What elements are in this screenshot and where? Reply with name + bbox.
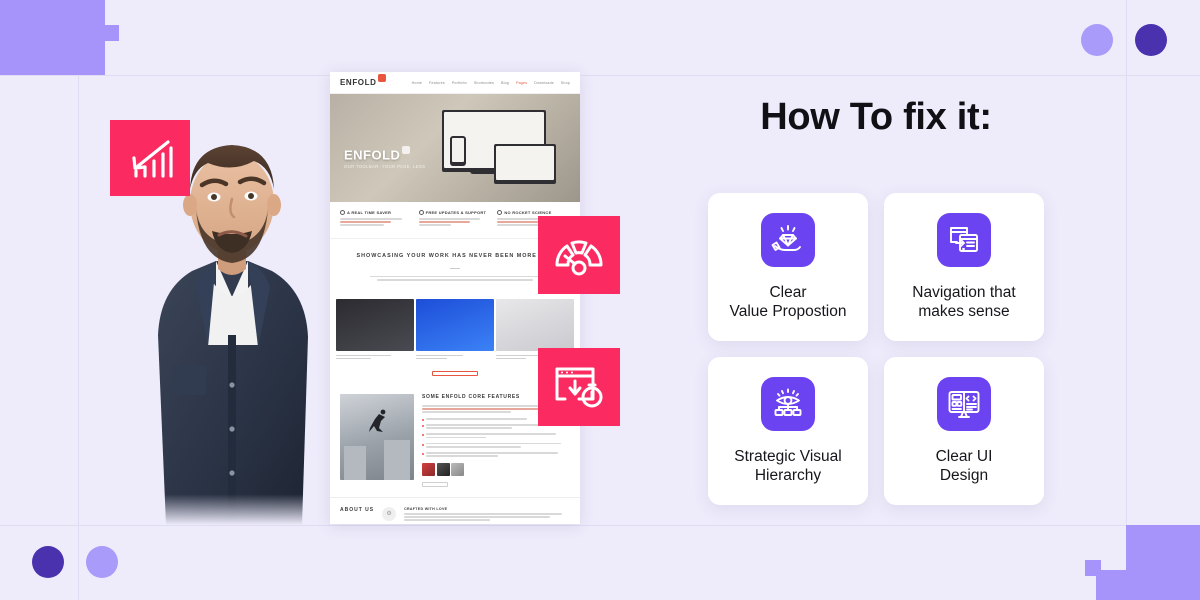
mockup-nav-item[interactable]: Home — [412, 81, 422, 85]
monitor-code-icon — [937, 377, 991, 431]
mockup-about-section: ABOUT US ⚙ CRAFTED WITH LOVE — [330, 497, 580, 524]
declining-chart-icon — [126, 136, 174, 180]
mockup-feature: A REAL TIME SAVER — [340, 210, 413, 228]
mockup-feature-title: NO ROCKET SCIENCE — [497, 210, 570, 215]
mockup-hero-badge-icon — [402, 146, 410, 154]
hand-diamond-icon — [761, 213, 815, 267]
mockup-cta-button[interactable] — [432, 371, 478, 376]
decor-block-top-left — [0, 0, 105, 75]
navigation-windows-icon — [937, 213, 991, 267]
gridline-horizontal — [0, 525, 1200, 526]
badge-slow-page-load — [538, 348, 620, 426]
mockup-nav[interactable]: Home Features Portfolio Shortcodes Blog … — [412, 81, 570, 85]
thumbnail — [422, 463, 435, 476]
card-clear-value-proposition[interactable]: Clear Value Propostion — [708, 193, 868, 341]
text-line — [377, 279, 534, 281]
text-line — [419, 218, 481, 220]
mockup-about-subtitle: CRAFTED WITH LOVE — [404, 507, 570, 511]
text-line — [419, 221, 470, 223]
poster-canvas: ENFOLD Home Features Portfolio Shortcode… — [0, 0, 1200, 600]
mockup-nav-item[interactable]: Features — [429, 81, 445, 85]
text-line — [340, 224, 384, 226]
decor-square-top-left — [103, 25, 119, 41]
clock-icon — [340, 210, 345, 215]
gridline-vertical — [1126, 0, 1127, 600]
mockup-feature-title: FREE UPDATES & SUPPORT — [419, 210, 492, 215]
text-line — [340, 218, 402, 220]
mockup-topbar: ENFOLD Home Features Portfolio Shortcode… — [330, 72, 580, 94]
card-label: Clear Value Propostion — [730, 283, 847, 322]
mockup-gallery — [330, 299, 580, 351]
list-item — [422, 443, 570, 449]
mockup-nav-item[interactable]: Shop — [561, 81, 570, 85]
divider — [450, 268, 460, 269]
thumbnail — [451, 463, 464, 476]
mockup-logo-text: ENFOLD — [340, 78, 377, 87]
slow-page-load-icon — [553, 363, 605, 411]
mockup-nav-item[interactable]: Portfolio — [452, 81, 467, 85]
rocket-icon — [497, 210, 502, 215]
mockup-about-title: ABOUT US — [340, 507, 374, 513]
decor-dot-bottom-light — [86, 546, 118, 578]
caption — [416, 355, 494, 361]
decor-dot-top-dark — [1135, 24, 1167, 56]
decor-dot-top-light — [1081, 24, 1113, 56]
slow-speedometer-icon — [553, 232, 605, 278]
thumbnail — [437, 463, 450, 476]
mockup-about-text: CRAFTED WITH LOVE — [404, 507, 570, 523]
card-clear-ui-design[interactable]: Clear UI Design — [884, 357, 1044, 505]
decor-dot-bottom-dark — [32, 546, 64, 578]
mockup-feature-title: A REAL TIME SAVER — [340, 210, 413, 215]
text-line — [419, 224, 452, 226]
device-tablet — [494, 144, 556, 184]
eye-hierarchy-icon — [761, 377, 815, 431]
mockup-feature: FREE UPDATES & SUPPORT — [419, 210, 492, 228]
jumping-man-photo — [340, 394, 414, 480]
mockup-nav-item-active[interactable]: Pages — [516, 81, 527, 85]
card-row: Strategic Visual Hierarchy — [708, 357, 1044, 505]
gridline-vertical — [78, 0, 79, 600]
card-label: Clear UI Design — [936, 447, 993, 486]
device-phone — [450, 136, 466, 166]
decor-block-bottom-right-ext — [1096, 570, 1200, 600]
badge-slow-speedometer — [538, 216, 620, 294]
mockup-nav-item[interactable]: Downloads — [534, 81, 554, 85]
card-row: Clear Value Propostion — [708, 193, 1044, 341]
text-line — [497, 224, 541, 226]
badge-declining-chart — [110, 120, 190, 196]
card-strategic-visual-hierarchy[interactable]: Strategic Visual Hierarchy — [708, 357, 868, 505]
mockup-logo: ENFOLD — [340, 78, 377, 87]
list-item — [422, 452, 570, 458]
gear-icon: ⚙ — [382, 507, 396, 521]
card-label: Navigation that makes sense — [912, 283, 1015, 322]
list-item — [422, 433, 570, 439]
page-title: How To fix it: — [700, 96, 1052, 139]
website-mockup[interactable]: ENFOLD Home Features Portfolio Shortcode… — [330, 72, 580, 524]
card-navigation-that-makes-sense[interactable]: Navigation that makes sense — [884, 193, 1044, 341]
mockup-showcase-title: SHOWCASING YOUR WORK HAS NEVER BEEN MORE… — [346, 253, 564, 259]
caption — [336, 355, 414, 361]
mockup-hero: ENFOLD OUR TOOLBAR, YOUR PAGE, LESS — [330, 94, 580, 202]
mockup-nav-item[interactable]: Blog — [501, 81, 509, 85]
text-line — [370, 276, 540, 278]
gallery-thumb — [416, 299, 494, 351]
mockup-hero-title: ENFOLD — [344, 146, 410, 162]
mockup-device-cluster — [434, 110, 574, 198]
refresh-icon — [419, 210, 424, 215]
mockup-thumbnail-row — [422, 463, 570, 476]
text-line — [422, 408, 552, 410]
mockup-hero-title-text: ENFOLD — [344, 147, 400, 162]
gallery-thumb — [496, 299, 574, 351]
solution-card-grid: Clear Value Propostion — [708, 193, 1044, 521]
text-line — [340, 221, 391, 223]
gallery-thumb — [336, 299, 414, 351]
mockup-nav-item[interactable]: Shortcodes — [474, 81, 494, 85]
card-label: Strategic Visual Hierarchy — [734, 447, 841, 486]
mockup-logo-badge-icon — [378, 74, 386, 82]
mockup-secondary-button[interactable] — [422, 482, 448, 487]
mockup-hero-subtitle: OUR TOOLBAR, YOUR PAGE, LESS — [344, 164, 425, 169]
text-line — [422, 411, 511, 413]
